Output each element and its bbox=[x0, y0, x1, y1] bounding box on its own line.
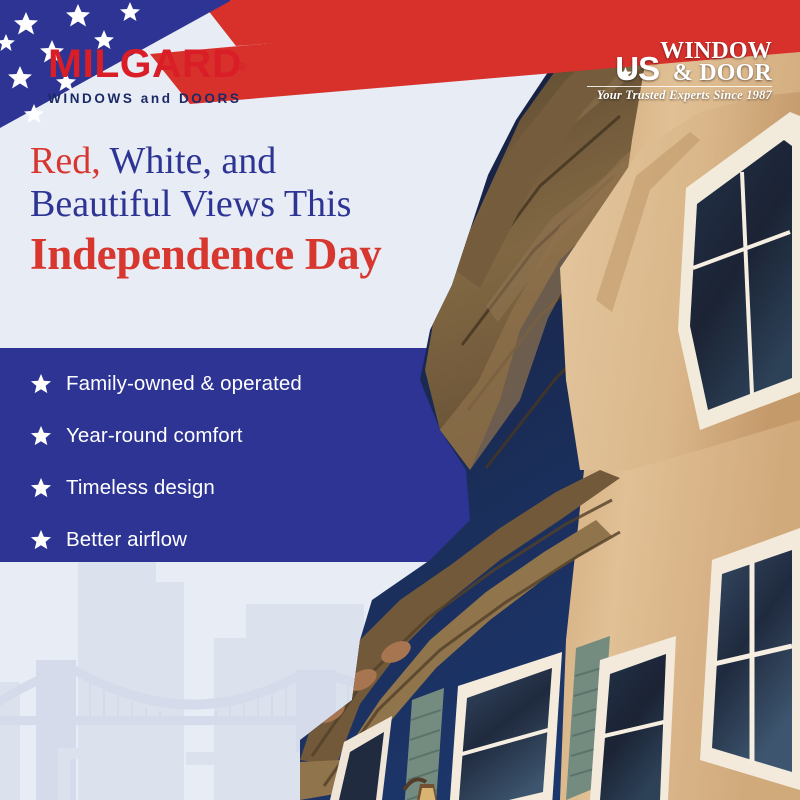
star-icon bbox=[30, 373, 52, 395]
milgard-tagline: WINDOWS and DOORS bbox=[48, 91, 246, 106]
us-window-and-door-logo: US WINDOW & DOOR Your Trusted Experts Si… bbox=[587, 40, 772, 103]
headline-line-2: Beautiful Views This bbox=[30, 183, 382, 226]
features-list: Family-owned & operated Year-round comfo… bbox=[30, 358, 360, 566]
uswd-wordmark: US WINDOW & DOOR bbox=[587, 40, 772, 84]
uswd-initials: US bbox=[615, 54, 659, 84]
milgard-wordmark: MILGARD® bbox=[48, 44, 246, 84]
list-item: Family-owned & operated bbox=[30, 358, 360, 410]
list-item: Better airflow bbox=[30, 514, 360, 566]
list-item-label: Family-owned & operated bbox=[66, 372, 302, 396]
star-icon bbox=[30, 477, 52, 499]
star-icon bbox=[619, 67, 632, 80]
headline-line-1: Red, White, and bbox=[30, 140, 382, 183]
headline-navy-words: White, and bbox=[110, 140, 277, 182]
star-icon bbox=[30, 425, 52, 447]
headline: Red, White, and Beautiful Views This Ind… bbox=[30, 140, 382, 280]
list-item-label: Timeless design bbox=[66, 476, 215, 500]
milgard-name: MILGARD bbox=[48, 44, 242, 84]
promotional-banner: MILGARD® WINDOWS and DOORS US WINDOW & D… bbox=[0, 0, 800, 800]
list-item-label: Better airflow bbox=[66, 528, 187, 552]
list-item: Timeless design bbox=[30, 462, 360, 514]
uswd-lines: WINDOW & DOOR bbox=[660, 40, 772, 84]
list-item: Year-round comfort bbox=[30, 410, 360, 462]
star-icon bbox=[30, 529, 52, 551]
headline-line-3: Independence Day bbox=[30, 229, 382, 280]
milgard-logo: MILGARD® WINDOWS and DOORS bbox=[48, 44, 246, 106]
headline-red-word: Red, bbox=[30, 140, 101, 182]
list-item-label: Year-round comfort bbox=[66, 424, 243, 448]
uswd-tagline: Your Trusted Experts Since 1987 bbox=[587, 86, 772, 103]
uswd-line-2: & DOOR bbox=[660, 62, 772, 84]
